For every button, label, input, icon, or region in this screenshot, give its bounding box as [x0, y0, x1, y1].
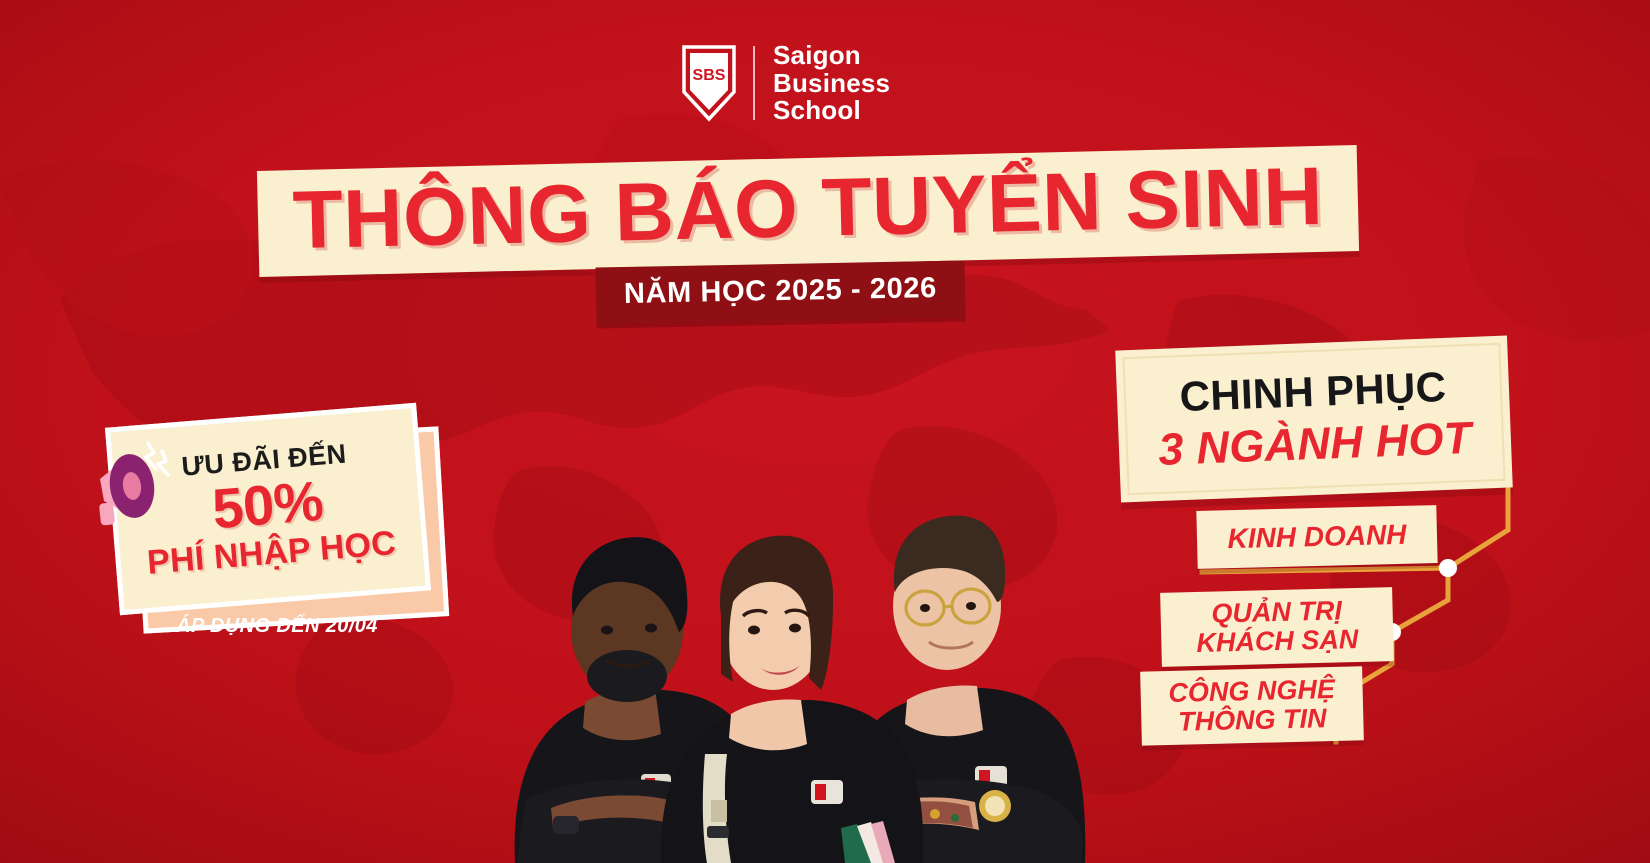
program-chip-it[interactable]: CÔNG NGHỆ THÔNG TIN	[1140, 666, 1364, 745]
students-photo	[455, 330, 1115, 863]
program-chip-hospitality[interactable]: QUẢN TRỊ KHÁCH SẠN	[1160, 587, 1394, 667]
main-title-banner: THÔNG BÁO TUYỂN SINH	[257, 145, 1359, 277]
program-chip-hospitality-line-1: QUẢN TRỊ	[1211, 597, 1342, 629]
promo-card: ƯU ĐÃI ĐẾN 50% PHÍ NHẬP HỌC	[112, 415, 442, 620]
logo-wordmark: Saigon Business School	[773, 42, 890, 125]
megaphone-icon	[70, 417, 190, 537]
logo-divider	[753, 46, 755, 120]
connector-node-1	[1439, 559, 1457, 577]
programs-header-line-2: 3 NGÀNH HOT	[1157, 412, 1472, 476]
logo-line-2: Business	[773, 70, 890, 98]
program-chip-business-line-1: KINH DOANH	[1227, 520, 1407, 554]
programs-header-card: CHINH PHỤC 3 NGÀNH HOT	[1115, 336, 1513, 503]
logo-line-1: Saigon	[773, 42, 890, 70]
page-title: THÔNG BÁO TUYỂN SINH	[257, 145, 1359, 277]
promo-discount-amount: 50%	[210, 473, 325, 538]
shield-text: SBS	[693, 67, 726, 84]
promo-deadline-note: ÁP DỤNG ĐẾN 20/04	[112, 615, 442, 638]
sbs-logo: SBS Saigon Business School	[681, 42, 890, 125]
admissions-banner: SBS Saigon Business School THÔNG BÁO TUY…	[0, 0, 1650, 863]
program-chip-it-line-2: THÔNG TIN	[1178, 704, 1327, 736]
programs-header-line-1: CHINH PHỤC	[1179, 363, 1447, 421]
academic-year-badge: NĂM HỌC 2025 - 2026	[595, 260, 965, 324]
program-chip-business[interactable]: KINH DOANH	[1196, 505, 1437, 569]
program-chip-hospitality-line-2: KHÁCH SẠN	[1196, 625, 1359, 658]
logo-line-3: School	[773, 97, 890, 125]
shield-logo-icon: SBS	[681, 44, 737, 122]
